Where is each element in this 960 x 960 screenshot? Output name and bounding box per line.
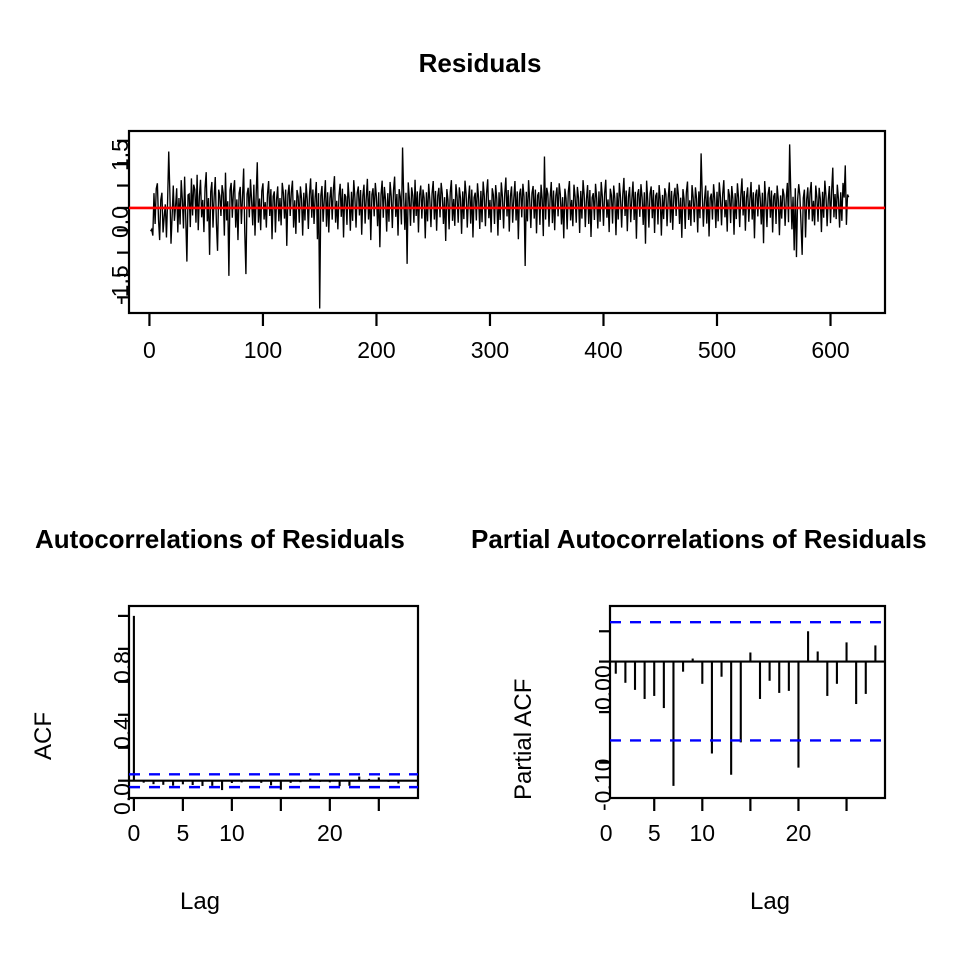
residuals-plot-box (129, 131, 885, 313)
figure-canvas: Residuals 01002003004005006001.50.0-1.5 … (0, 0, 960, 960)
acf-title: Autocorrelations of Residuals (35, 524, 405, 555)
acf-plot-y-tick-label: 0.4 (109, 717, 136, 749)
acf-plot-x-tick-label: 10 (197, 820, 267, 847)
pacf-plot-stems (616, 631, 876, 786)
residuals-series-line (151, 144, 849, 308)
acf-plot-x-tick-label: 20 (295, 820, 365, 847)
acf-plot-stems (134, 616, 408, 790)
residuals-x-tick-label: 200 (336, 337, 416, 364)
pacf-plot-x-tick-label: 20 (763, 820, 833, 847)
pacf-plot-plot-box (610, 606, 885, 798)
pacf-panel: Partial Autocorrelations of Residuals 05… (480, 500, 960, 960)
acf-plot-plot-box (129, 606, 418, 798)
acf-x-axis-title: Lag (0, 888, 400, 916)
pacf-y-axis-title: Partial ACF (510, 679, 538, 800)
pacf-plot-y-tick-label: 0.00 (590, 665, 617, 710)
acf-y-axis-title: ACF (30, 712, 58, 760)
acf-plot-y-tick-label: 0.0 (109, 783, 136, 815)
pacf-x-axis-title: Lag (570, 888, 960, 916)
residuals-y-tick-label: 0.0 (107, 206, 134, 238)
acf-panel: Autocorrelations of Residuals 0510200.00… (0, 500, 480, 960)
residuals-x-tick-label: 300 (450, 337, 530, 364)
residuals-x-tick-label: 0 (109, 337, 189, 364)
residuals-x-tick-label: 400 (563, 337, 643, 364)
acf-plot-y-tick-label: 0.8 (109, 651, 136, 683)
residuals-x-tick-label: 500 (677, 337, 757, 364)
residuals-x-tick-label: 100 (223, 337, 303, 364)
pacf-plot-y-tick-label: -0.10 (590, 758, 617, 810)
residuals-title: Residuals (0, 48, 960, 79)
residuals-x-ticks (149, 313, 830, 326)
residuals-panel: Residuals 01002003004005006001.50.0-1.5 (0, 0, 960, 400)
pacf-title: Partial Autocorrelations of Residuals (471, 524, 927, 555)
pacf-plot-x-tick-label: 10 (667, 820, 737, 847)
residuals-y-tick-label: -1.5 (107, 265, 134, 305)
residuals-y-tick-label: 1.5 (107, 139, 134, 171)
residuals-x-tick-label: 600 (791, 337, 871, 364)
